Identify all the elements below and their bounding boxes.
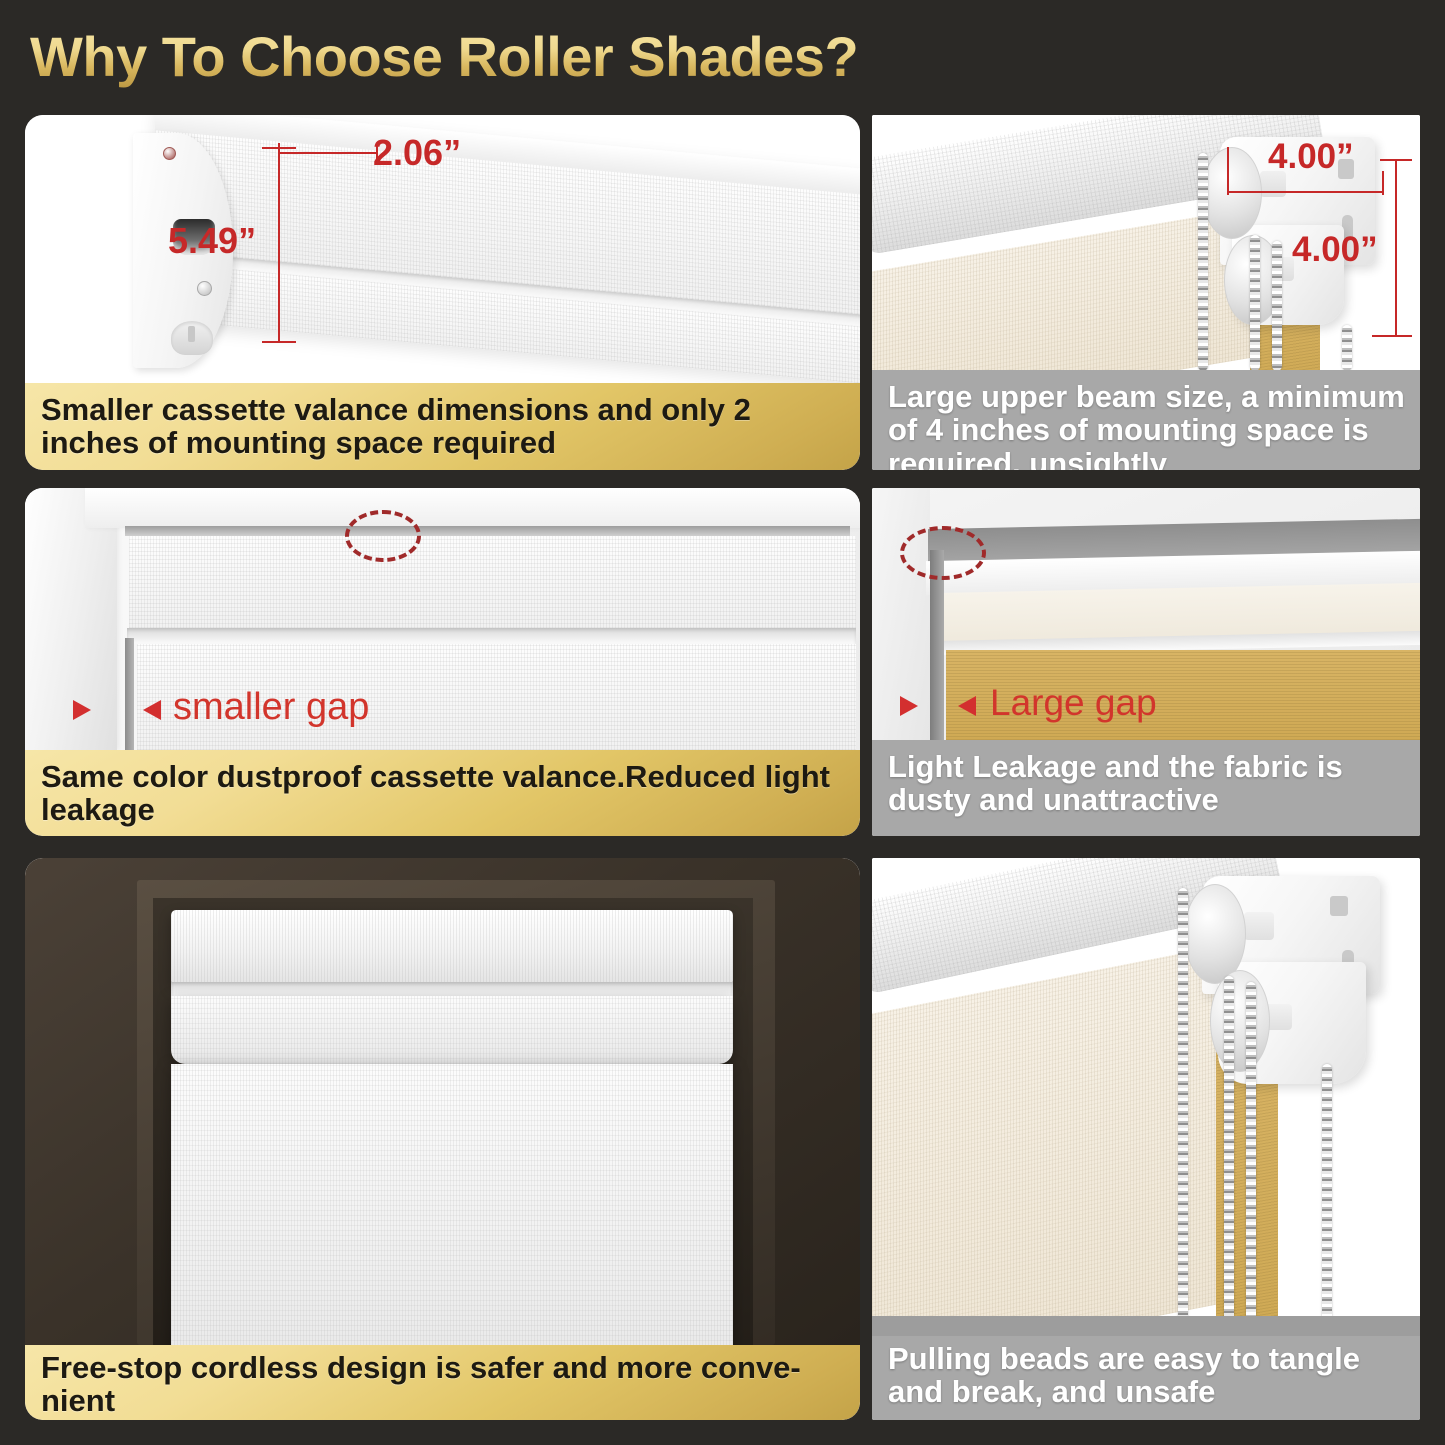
width-dimension-label: 2.06” <box>373 132 461 174</box>
floor-strip <box>872 1316 1420 1336</box>
beam-width-tick-right <box>1382 171 1384 195</box>
beam-height-tick-top <box>1380 159 1412 161</box>
caption-large-upper-beam: Large upper beam size, a minimum of 4 in… <box>872 370 1420 470</box>
valance-body-illustration <box>155 115 860 383</box>
shade-mid-rail <box>127 628 856 644</box>
beam-width-dimension-line <box>1227 191 1384 193</box>
panel-dustproof-cassette-valance: smaller gap Same color dustproof cassett… <box>25 488 860 836</box>
shade-fabric-upper <box>129 536 856 628</box>
height-dimension-tick-bottom <box>262 341 296 343</box>
bead-chain-1 <box>1178 888 1188 1336</box>
gap-strip <box>125 638 134 750</box>
roller-shade-panel <box>171 1064 733 1345</box>
bead-chain-left <box>1198 153 1208 370</box>
large-gap-arrow-right <box>958 696 976 716</box>
bracket-disc-2 <box>1210 970 1270 1072</box>
caption-line-1: Free-stop cordless design is safer and m… <box>41 1351 846 1384</box>
roller-shade-fabric <box>171 996 733 1064</box>
caption-light-leakage-dusty-fabric: Light Leakage and the fabric is dusty an… <box>872 740 1420 836</box>
photo-large-gap: Large gap <box>872 488 1420 740</box>
panel-cassette-valance-dimensions: 5.49” 2.06” Smaller cassette valance dim… <box>25 115 860 470</box>
cassette-valance <box>171 910 733 986</box>
caption-line-1: Pulling beads are easy to tangle <box>888 1342 1406 1375</box>
bracket-slot-top <box>1330 896 1348 916</box>
smaller-gap-label: smaller gap <box>173 686 369 729</box>
large-gap-highlight-ellipse <box>900 526 986 580</box>
bracket-disc-1 <box>1184 884 1246 984</box>
bead-chain-far <box>1342 325 1352 370</box>
large-gap-arrow-left <box>900 696 918 716</box>
caption-line-2: and break, and unsafe <box>888 1375 1406 1408</box>
photo-room-scene <box>25 858 860 1345</box>
shade-fabric-beads <box>872 940 1250 1336</box>
bead-chain-3 <box>1246 982 1256 1336</box>
width-dimension-line <box>278 152 378 154</box>
caption-pulling-beads-unsafe: Pulling beads are easy to tangle and bre… <box>872 1336 1420 1420</box>
page-title: Why To Choose Roller Shades? <box>30 24 858 89</box>
bead-chain-4 <box>1322 1064 1332 1336</box>
panel-pulling-beads-unsafe: Pulling beads are easy to tangle and bre… <box>872 858 1420 1420</box>
gap-arrow-right <box>143 700 161 720</box>
beam-height-tick-bottom <box>1372 335 1412 337</box>
bead-chain-2 <box>1224 976 1234 1336</box>
photo-pulling-beads <box>872 858 1420 1336</box>
panel-free-stop-cordless-design: Free-stop cordless design is safer and m… <box>25 858 860 1420</box>
width-dimension-tick-left <box>278 143 280 165</box>
caption-dustproof-cassette-valance: Same color dustproof cassette valance.Re… <box>25 750 860 836</box>
height-dimension-line <box>278 147 280 342</box>
bracket-emblem-1 <box>1244 912 1274 940</box>
bead-chain-mid <box>1250 235 1260 370</box>
bracket-disc <box>1202 147 1262 239</box>
window-casing-top <box>85 488 860 528</box>
height-dimension-label: 5.49” <box>168 220 256 262</box>
beam-width-tick-left <box>1227 147 1229 195</box>
infographic-page: Why To Choose Roller Shades? 5.49” <box>0 0 1445 1445</box>
gap-highlight-ellipse <box>345 510 421 562</box>
bead-chain-right <box>1272 241 1282 370</box>
valance-top-rail <box>125 526 850 536</box>
caption-cassette-valance-dimensions: Smaller cassette valance dimensions and … <box>25 383 860 470</box>
beam-height-dimension-label: 4.00” <box>1292 230 1378 270</box>
beam-width-dimension-label: 4.00” <box>1268 137 1354 177</box>
beam-height-dimension-line <box>1395 159 1397 337</box>
photo-large-upper-beam: 4.00” 4.00” <box>872 115 1420 370</box>
panel-large-upper-beam: 4.00” 4.00” Large upper beam size, a min… <box>872 115 1420 470</box>
caption-free-stop-cordless-design: Free-stop cordless design is safer and m… <box>25 1345 860 1420</box>
photo-smaller-gap: smaller gap <box>25 488 860 750</box>
gap-arrow-left <box>73 700 91 720</box>
panel-light-leakage-dusty-fabric: Large gap Light Leakage and the fabric i… <box>872 488 1420 836</box>
large-gap-label: Large gap <box>990 682 1157 724</box>
valance-groove <box>171 982 733 996</box>
photo-cassette-valance: 5.49” 2.06” <box>25 115 860 383</box>
caption-line-2: nient <box>41 1384 846 1417</box>
